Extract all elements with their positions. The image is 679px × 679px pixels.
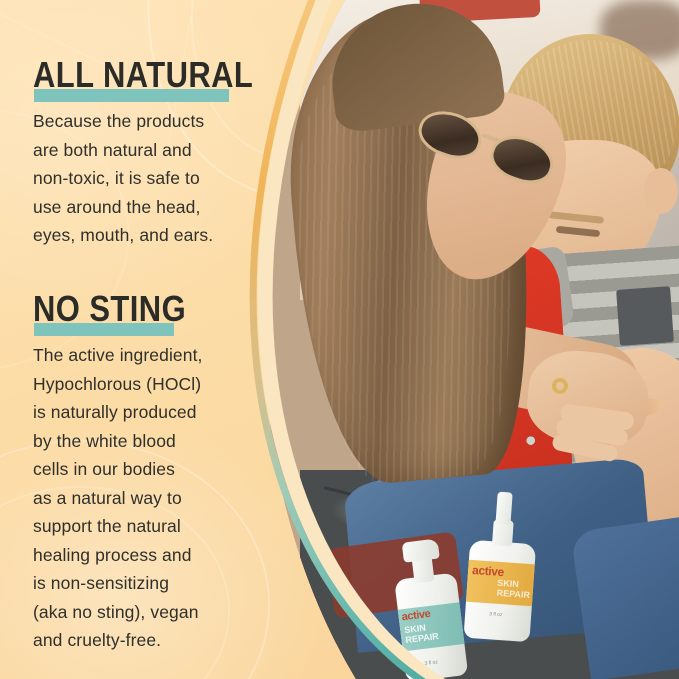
- boy-ear: [644, 168, 678, 214]
- section-all-natural: ALL NATURAL Because the products are bot…: [33, 56, 289, 250]
- body-line: eyes, mouth, and ears.: [33, 221, 265, 250]
- body-line: The active ingredient,: [33, 341, 265, 370]
- spray-nozzle-icon: [402, 538, 440, 562]
- body-line: cells in our bodies: [33, 455, 265, 484]
- body-line: Because the products: [33, 107, 265, 136]
- body-line: and cruelty-free.: [33, 626, 265, 655]
- bottle-cap-icon: [496, 492, 513, 525]
- text-column: ALL NATURAL Because the products are bot…: [0, 0, 300, 679]
- body-line: is non-sensitizing: [33, 569, 265, 598]
- body-line: support the natural: [33, 512, 265, 541]
- section-body-all-natural: Because the products are both natural an…: [33, 107, 265, 250]
- product-bottle-gold: active SKIN REPAIR 3 fl oz: [463, 506, 538, 642]
- boy-shirt-pocket: [616, 286, 674, 346]
- section-heading-all-natural: ALL NATURAL: [33, 56, 253, 94]
- body-line: as a natural way to: [33, 484, 265, 513]
- bottle-product-name: SKIN REPAIR: [496, 578, 537, 601]
- section-body-no-sting: The active ingredient, Hypochlorous (HOC…: [33, 341, 265, 655]
- boy-jeans: [570, 509, 679, 679]
- body-line: healing process and: [33, 541, 265, 570]
- body-line: are both natural and: [33, 136, 265, 165]
- infographic-canvas: active SKIN REPAIR 3 fl oz active SKIN R…: [0, 0, 679, 679]
- section-heading-no-sting: NO STING: [33, 290, 186, 328]
- body-line: Hypochlorous (HOCl): [33, 370, 265, 399]
- body-line: by the white blood: [33, 427, 265, 456]
- body-line: is naturally produced: [33, 398, 265, 427]
- bottle-volume: 3 fl oz: [489, 611, 503, 618]
- body-line: use around the head,: [33, 193, 265, 222]
- body-line: non-toxic, it is safe to: [33, 164, 265, 193]
- section-no-sting: NO STING The active ingredient, Hypochlo…: [33, 290, 265, 655]
- body-line: (aka no sting), vegan: [33, 598, 265, 627]
